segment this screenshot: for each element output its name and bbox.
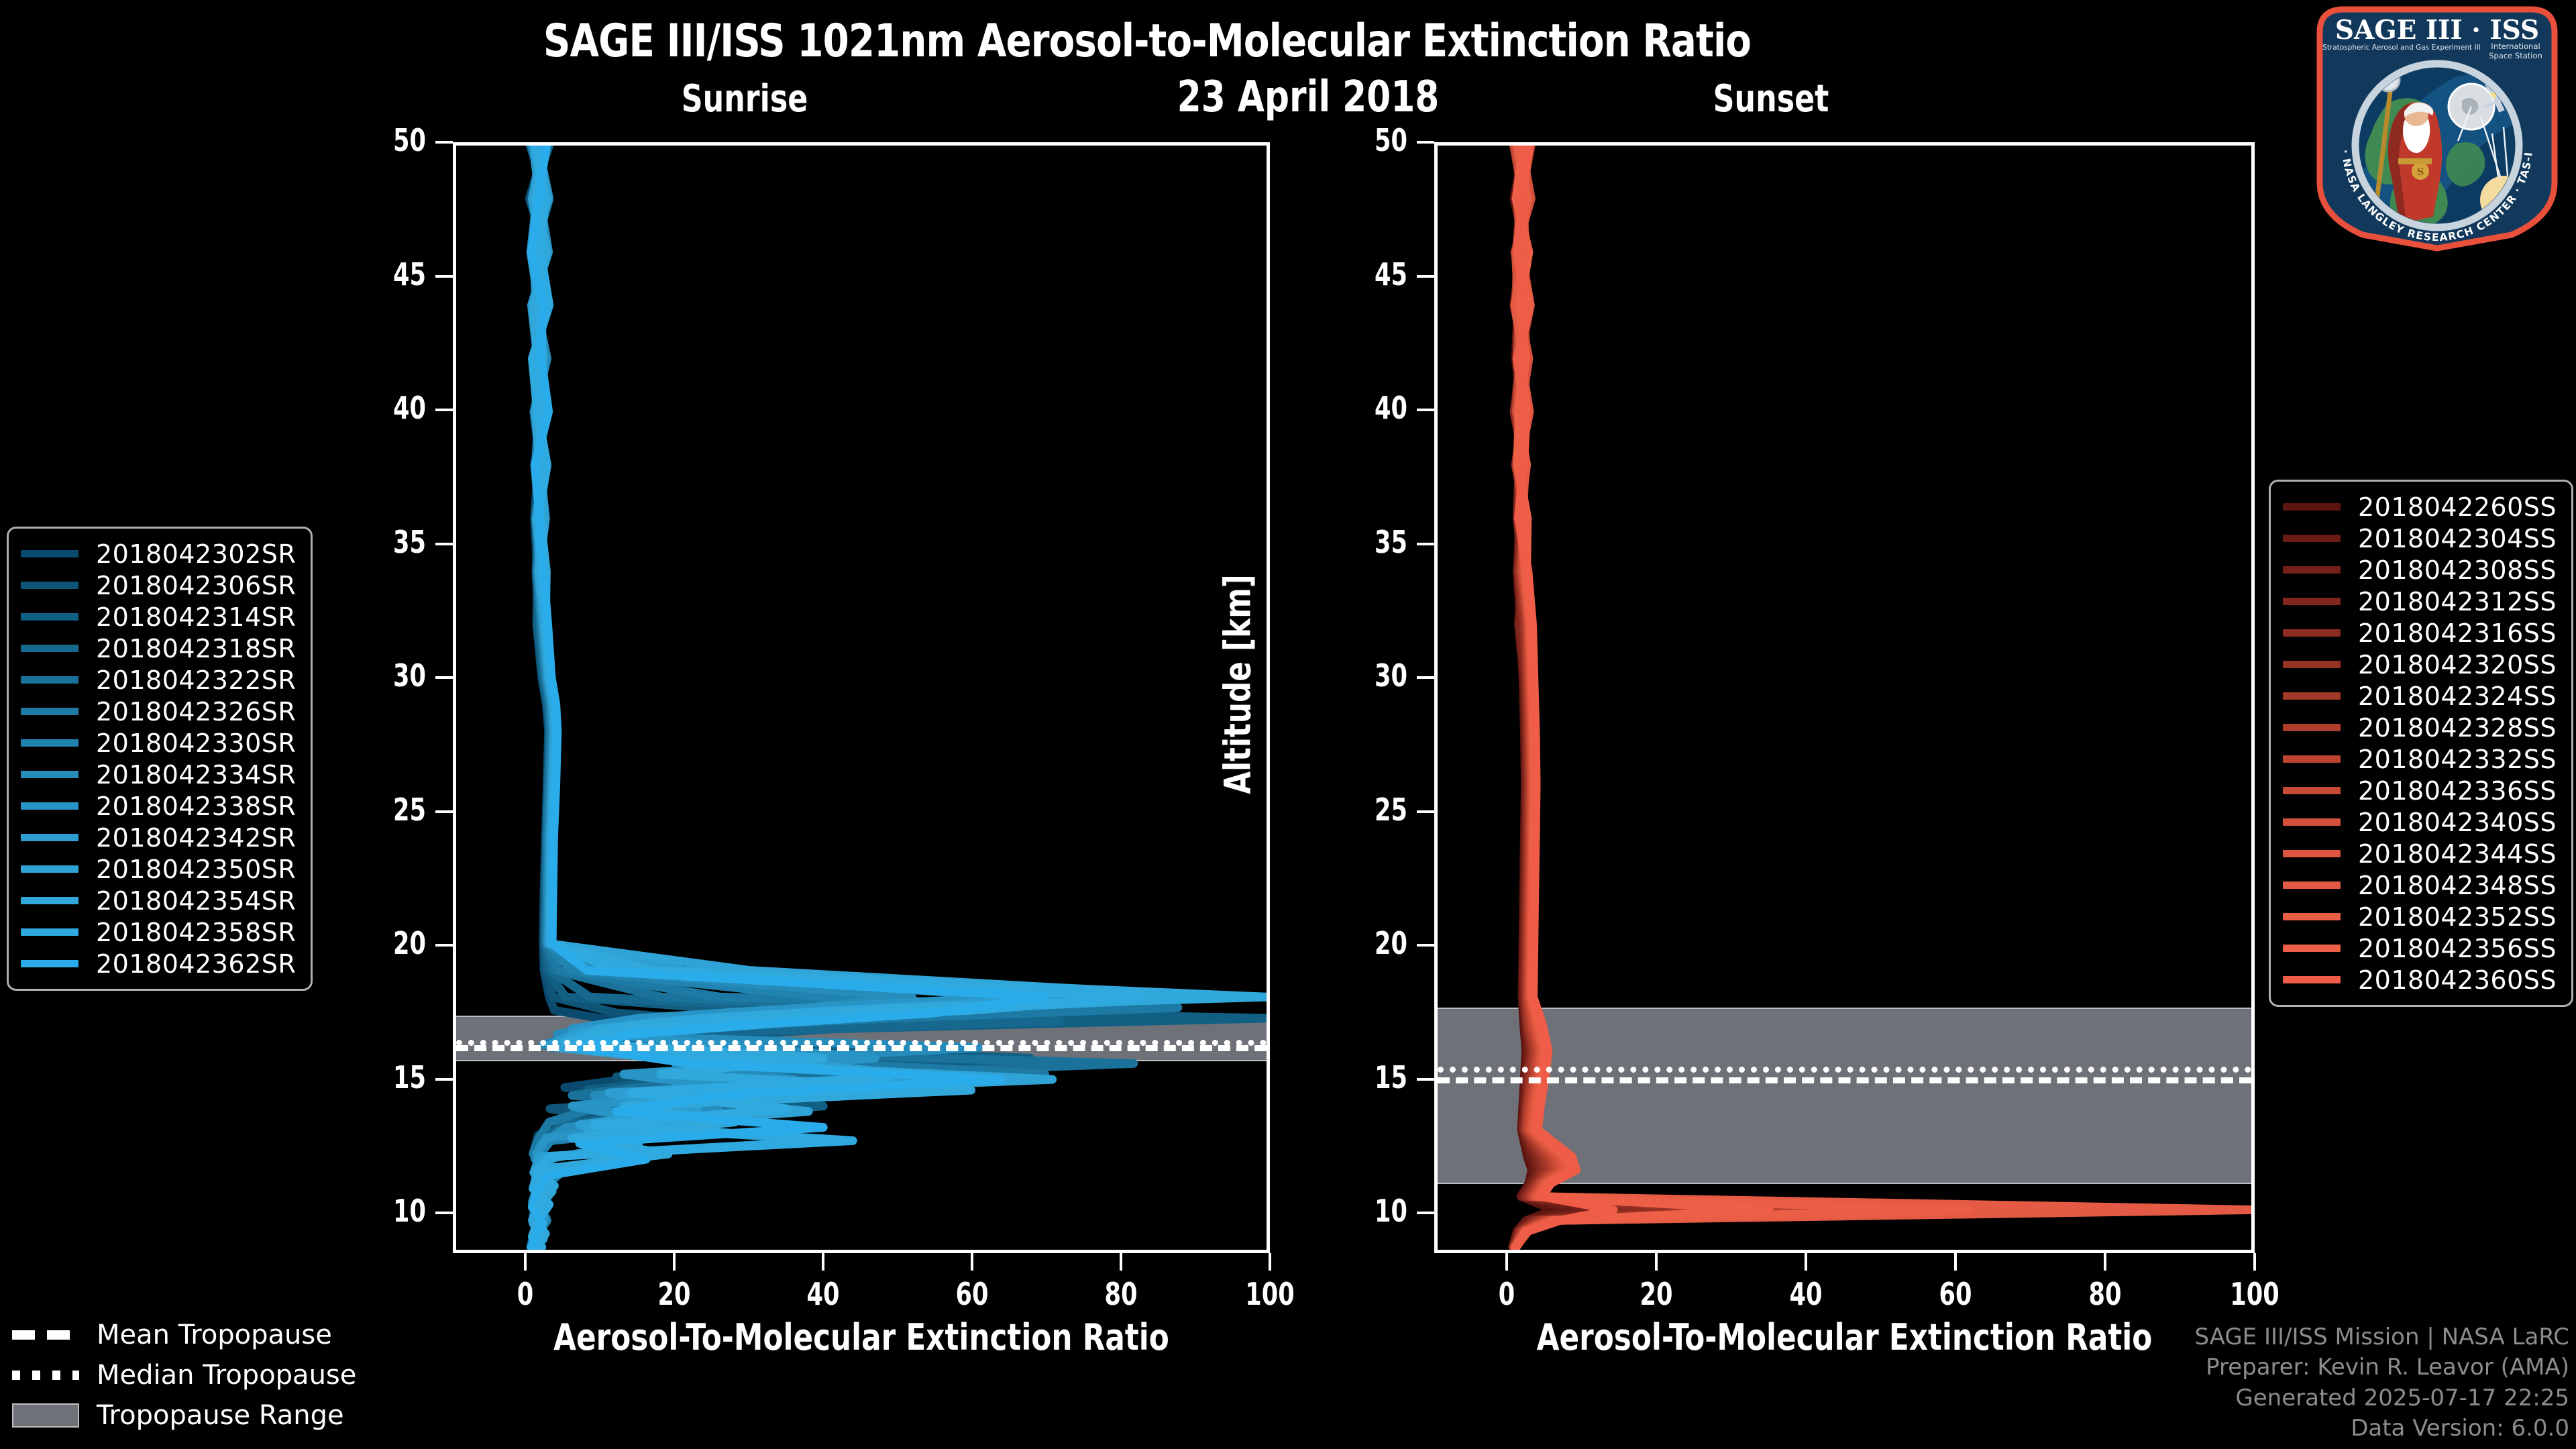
y-tick: [1417, 409, 1434, 411]
legend-color-swatch-icon: [21, 613, 78, 621]
legend-color-swatch-icon: [21, 739, 78, 747]
legend-item-2018042318SR[interactable]: 2018042318SR: [21, 633, 296, 664]
legend-item-2018042328SS[interactable]: 2018042328SS: [2283, 712, 2557, 743]
legend-item-2018042332SS[interactable]: 2018042332SS: [2283, 743, 2557, 775]
legend-color-swatch-icon: [2283, 535, 2341, 542]
plot-canvas: SAGE III/ISS 1021nm Aerosol-to-Molecular…: [0, 0, 2576, 1449]
y-tick-label: 45: [1322, 256, 1408, 292]
legend-item-label: 2018042344SS: [2358, 839, 2557, 869]
sunrise-plot-area: [456, 146, 1267, 1250]
legend-item-label: 2018042360SS: [2358, 965, 2557, 995]
legend-item-2018042362SR[interactable]: 2018042362SR: [21, 948, 296, 979]
legend-color-swatch-icon: [2283, 724, 2341, 731]
y-tick-label: 35: [1322, 524, 1408, 560]
legend-color-swatch-icon: [21, 550, 78, 557]
sunset-plot-area: [1438, 146, 2251, 1250]
legend-item-label: 2018042332SS: [2358, 745, 2557, 774]
sunrise-plot-panel: [453, 142, 1270, 1253]
legend-item-2018042324SS[interactable]: 2018042324SS: [2283, 680, 2557, 712]
y-tick-label: 25: [341, 792, 427, 828]
x-tick: [1120, 1253, 1122, 1271]
legend-color-swatch-icon: [21, 928, 78, 936]
legend-color-swatch-icon: [2283, 881, 2341, 889]
y-tick: [1417, 275, 1434, 278]
y-tick: [1417, 944, 1434, 947]
y-tick: [1417, 141, 1434, 144]
sunset-y-axis-title: Altitude [km]: [1217, 574, 1259, 794]
legend-item-label: 2018042316SS: [2358, 619, 2557, 648]
legend-item-2018042336SS[interactable]: 2018042336SS: [2283, 775, 2557, 806]
legend-item-2018042312SS[interactable]: 2018042312SS: [2283, 586, 2557, 617]
x-tick-label: 60: [915, 1276, 1029, 1312]
y-tick: [1417, 676, 1434, 679]
tropopause-range-swatch-icon: [12, 1403, 79, 1428]
svg-text:International: International: [2491, 42, 2540, 51]
legend-color-swatch-icon: [21, 897, 78, 904]
legend-item-label: 2018042350SR: [96, 855, 296, 884]
legend-color-swatch-icon: [2283, 503, 2341, 511]
y-tick: [1417, 1078, 1434, 1081]
legend-item-label: 2018042322SR: [96, 665, 296, 695]
legend-color-swatch-icon: [21, 708, 78, 715]
credits-block: SAGE III/ISS Mission | NASA LaRC Prepare…: [2194, 1322, 2569, 1444]
legend-item-2018042316SS[interactable]: 2018042316SS: [2283, 617, 2557, 649]
x-tick: [524, 1253, 527, 1271]
y-tick: [435, 409, 453, 411]
legend-item-2018042304SS[interactable]: 2018042304SS: [2283, 523, 2557, 554]
sunset-x-axis-title: Aerosol-To-Molecular Extinction Ratio: [1475, 1316, 2214, 1358]
x-tick: [1269, 1253, 1271, 1271]
sage-iii-iss-mission-patch-logo: SAGE III · ISS Stratospheric Aerosol and…: [2302, 3, 2572, 252]
y-tick: [1417, 810, 1434, 813]
legend-item-label: 2018042304SS: [2358, 524, 2557, 553]
sunset-profile-curves: [1438, 146, 2251, 1250]
legend-row-mean-tropopause: Mean Tropopause: [12, 1315, 356, 1355]
x-tick-label: 100: [1213, 1276, 1327, 1312]
legend-item-label: 2018042302SR: [96, 539, 296, 569]
legend-color-swatch-icon: [21, 960, 78, 967]
legend-item-label: 2018042312SS: [2358, 587, 2557, 616]
legend-item-label: 2018042354SR: [96, 886, 296, 916]
y-tick: [435, 944, 453, 947]
legend-item-label: 2018042308SS: [2358, 555, 2557, 585]
x-tick: [1505, 1253, 1508, 1271]
y-tick-label: 30: [1322, 657, 1408, 694]
legend-color-swatch-icon: [2283, 566, 2341, 574]
legend-color-swatch-icon: [21, 802, 78, 810]
date-title: 23 April 2018: [1097, 72, 1519, 122]
y-tick-label: 40: [341, 390, 427, 426]
y-tick-label: 20: [341, 925, 427, 961]
y-tick: [435, 1078, 453, 1081]
y-tick: [435, 1212, 453, 1214]
legend-item-label: 2018042334SR: [96, 760, 296, 790]
credits-generated: Generated 2025-07-17 22:25: [2194, 1383, 2569, 1413]
sunrise-profile-curves: [456, 146, 1267, 1250]
legend-color-swatch-icon: [2283, 850, 2341, 857]
legend-item-2018042350SR[interactable]: 2018042350SR: [21, 853, 296, 885]
x-tick-label: 0: [1450, 1276, 1564, 1312]
sunset-mean-tropopause-line: [1438, 1077, 2251, 1083]
legend-item-2018042260SS[interactable]: 2018042260SS: [2283, 491, 2557, 523]
legend-item-label: 2018042318SR: [96, 634, 296, 663]
legend-color-swatch-icon: [21, 582, 78, 589]
y-tick: [1417, 1212, 1434, 1214]
legend-item-label: 2018042358SR: [96, 918, 296, 947]
legend-item-label: 2018042336SS: [2358, 776, 2557, 806]
legend-item-2018042358SR[interactable]: 2018042358SR: [21, 916, 296, 948]
page-title: SAGE III/ISS 1021nm Aerosol-to-Molecular…: [92, 15, 2202, 68]
x-tick-label: 0: [468, 1276, 582, 1312]
legend-item-2018042360SS[interactable]: 2018042360SS: [2283, 964, 2557, 996]
legend-item-2018042344SS[interactable]: 2018042344SS: [2283, 838, 2557, 869]
legend-color-swatch-icon: [2283, 692, 2341, 700]
y-tick-label: 15: [1322, 1059, 1408, 1095]
legend-item-2018042348SS[interactable]: 2018042348SS: [2283, 869, 2557, 901]
y-tick-label: 30: [341, 657, 427, 694]
y-tick-label: 40: [1322, 390, 1408, 426]
sunset-event-legend[interactable]: 2018042260SS2018042304SS2018042308SS2018…: [2269, 480, 2573, 1007]
legend-color-swatch-icon: [2283, 976, 2341, 983]
x-tick: [1954, 1253, 1957, 1271]
legend-color-swatch-icon: [2283, 629, 2341, 637]
legend-item-label: 2018042314SR: [96, 602, 296, 632]
y-tick-label: 50: [1322, 122, 1408, 158]
legend-item-label: 2018042324SS: [2358, 682, 2557, 711]
y-tick: [435, 676, 453, 679]
legend-item-label: 2018042352SS: [2358, 902, 2557, 932]
legend-row-tropopause-range: Tropopause Range: [12, 1395, 356, 1436]
legend-item-2018042352SS[interactable]: 2018042352SS: [2283, 901, 2557, 932]
svg-text:S: S: [2417, 166, 2424, 178]
y-tick-label: 25: [1322, 792, 1408, 828]
x-tick: [2104, 1253, 2106, 1271]
y-tick-label: 45: [341, 256, 427, 292]
legend-item-2018042356SS[interactable]: 2018042356SS: [2283, 932, 2557, 964]
legend-item-2018042320SS[interactable]: 2018042320SS: [2283, 649, 2557, 680]
legend-item-label: 2018042338SR: [96, 792, 296, 821]
legend-color-swatch-icon: [2283, 755, 2341, 763]
legend-item-label: 2018042342SR: [96, 823, 296, 853]
legend-color-swatch-icon: [2283, 787, 2341, 794]
legend-item-2018042334SR[interactable]: 2018042334SR: [21, 759, 296, 790]
credits-data-version: Data Version: 6.0.0: [2194, 1413, 2569, 1444]
x-tick: [2253, 1253, 2256, 1271]
legend-color-swatch-icon: [21, 771, 78, 778]
credits-mission: SAGE III/ISS Mission | NASA LaRC: [2194, 1322, 2569, 1352]
y-tick: [435, 810, 453, 813]
mean-tropopause-line-icon: [12, 1330, 79, 1340]
legend-color-swatch-icon: [2283, 598, 2341, 605]
y-tick-label: 35: [341, 524, 427, 560]
x-tick-label: 60: [1898, 1276, 2012, 1312]
legend-color-swatch-icon: [21, 645, 78, 652]
legend-item-label: 2018042326SR: [96, 697, 296, 727]
sunrise-x-axis-title: Aerosol-To-Molecular Extinction Ratio: [494, 1316, 1229, 1358]
credits-preparer: Preparer: Kevin R. Leavor (AMA): [2194, 1352, 2569, 1383]
tropopause-range-label: Tropopause Range: [97, 1400, 344, 1431]
sunset-plot-panel: [1434, 142, 2255, 1253]
y-tick: [435, 141, 453, 144]
x-tick-label: 40: [766, 1276, 880, 1312]
legend-item-2018042306SR[interactable]: 2018042306SR: [21, 570, 296, 601]
legend-item-label: 2018042340SS: [2358, 808, 2557, 837]
legend-item-2018042340SS[interactable]: 2018042340SS: [2283, 806, 2557, 838]
legend-item-label: 2018042320SS: [2358, 650, 2557, 680]
legend-item-2018042330SR[interactable]: 2018042330SR: [21, 727, 296, 759]
legend-item-2018042326SR[interactable]: 2018042326SR: [21, 696, 296, 727]
legend-item-label: 2018042328SS: [2358, 713, 2557, 743]
x-tick-label: 100: [2198, 1276, 2312, 1312]
y-tick-label: 10: [1322, 1193, 1408, 1229]
tropopause-legend: Mean Tropopause Median Tropopause Tropop…: [12, 1315, 356, 1436]
x-tick: [822, 1253, 824, 1271]
y-tick-label: 10: [341, 1193, 427, 1229]
y-tick-label: 20: [1322, 925, 1408, 961]
legend-item-label: 2018042362SR: [96, 949, 296, 979]
y-tick: [435, 275, 453, 278]
sunset-panel-title: Sunset: [1682, 77, 1860, 121]
legend-item-label: 2018042260SS: [2358, 492, 2557, 522]
legend-item-2018042338SR[interactable]: 2018042338SR: [21, 790, 296, 822]
sunrise-mean-tropopause-line: [456, 1045, 1267, 1051]
y-tick-label: 15: [341, 1059, 427, 1095]
legend-item-label: 2018042356SS: [2358, 934, 2557, 963]
svg-text:Stratospheric Aerosol and Gas: Stratospheric Aerosol and Gas Experiment…: [2322, 44, 2481, 52]
legend-color-swatch-icon: [2283, 661, 2341, 668]
x-tick-label: 20: [617, 1276, 731, 1312]
legend-color-swatch-icon: [2283, 818, 2341, 826]
x-tick-label: 80: [1064, 1276, 1178, 1312]
y-tick: [1417, 543, 1434, 545]
median-tropopause-label: Median Tropopause: [97, 1360, 356, 1391]
y-tick-label: 50: [341, 122, 427, 158]
mean-tropopause-label: Mean Tropopause: [97, 1320, 332, 1350]
legend-item-2018042308SS[interactable]: 2018042308SS: [2283, 554, 2557, 586]
legend-item-label: 2018042330SR: [96, 729, 296, 758]
sunrise-panel-title: Sunrise: [656, 77, 833, 121]
x-tick-label: 80: [2048, 1276, 2162, 1312]
sunrise-event-legend[interactable]: 2018042302SR2018042306SR2018042314SR2018…: [7, 527, 313, 991]
legend-color-swatch-icon: [2283, 913, 2341, 920]
svg-text:Space Station: Space Station: [2489, 51, 2542, 60]
x-tick: [673, 1253, 676, 1271]
legend-color-swatch-icon: [21, 676, 78, 684]
legend-item-2018042342SR[interactable]: 2018042342SR: [21, 822, 296, 853]
legend-item-2018042314SR[interactable]: 2018042314SR: [21, 601, 296, 633]
y-tick: [435, 543, 453, 545]
legend-color-swatch-icon: [2283, 945, 2341, 952]
legend-row-median-tropopause: Median Tropopause: [12, 1355, 356, 1395]
legend-color-swatch-icon: [21, 865, 78, 873]
x-tick-label: 40: [1749, 1276, 1863, 1312]
median-tropopause-line-icon: [12, 1371, 79, 1380]
legend-color-swatch-icon: [21, 834, 78, 841]
legend-item-2018042322SR[interactable]: 2018042322SR: [21, 664, 296, 696]
sunset-median-tropopause-line: [1438, 1067, 2251, 1073]
x-tick: [1655, 1253, 1658, 1271]
legend-item-2018042354SR[interactable]: 2018042354SR: [21, 885, 296, 916]
legend-item-label: 2018042306SR: [96, 571, 296, 600]
x-tick: [971, 1253, 973, 1271]
legend-item-2018042302SR[interactable]: 2018042302SR: [21, 538, 296, 570]
x-tick: [1805, 1253, 1807, 1271]
x-tick-label: 20: [1599, 1276, 1713, 1312]
legend-item-label: 2018042348SS: [2358, 871, 2557, 900]
